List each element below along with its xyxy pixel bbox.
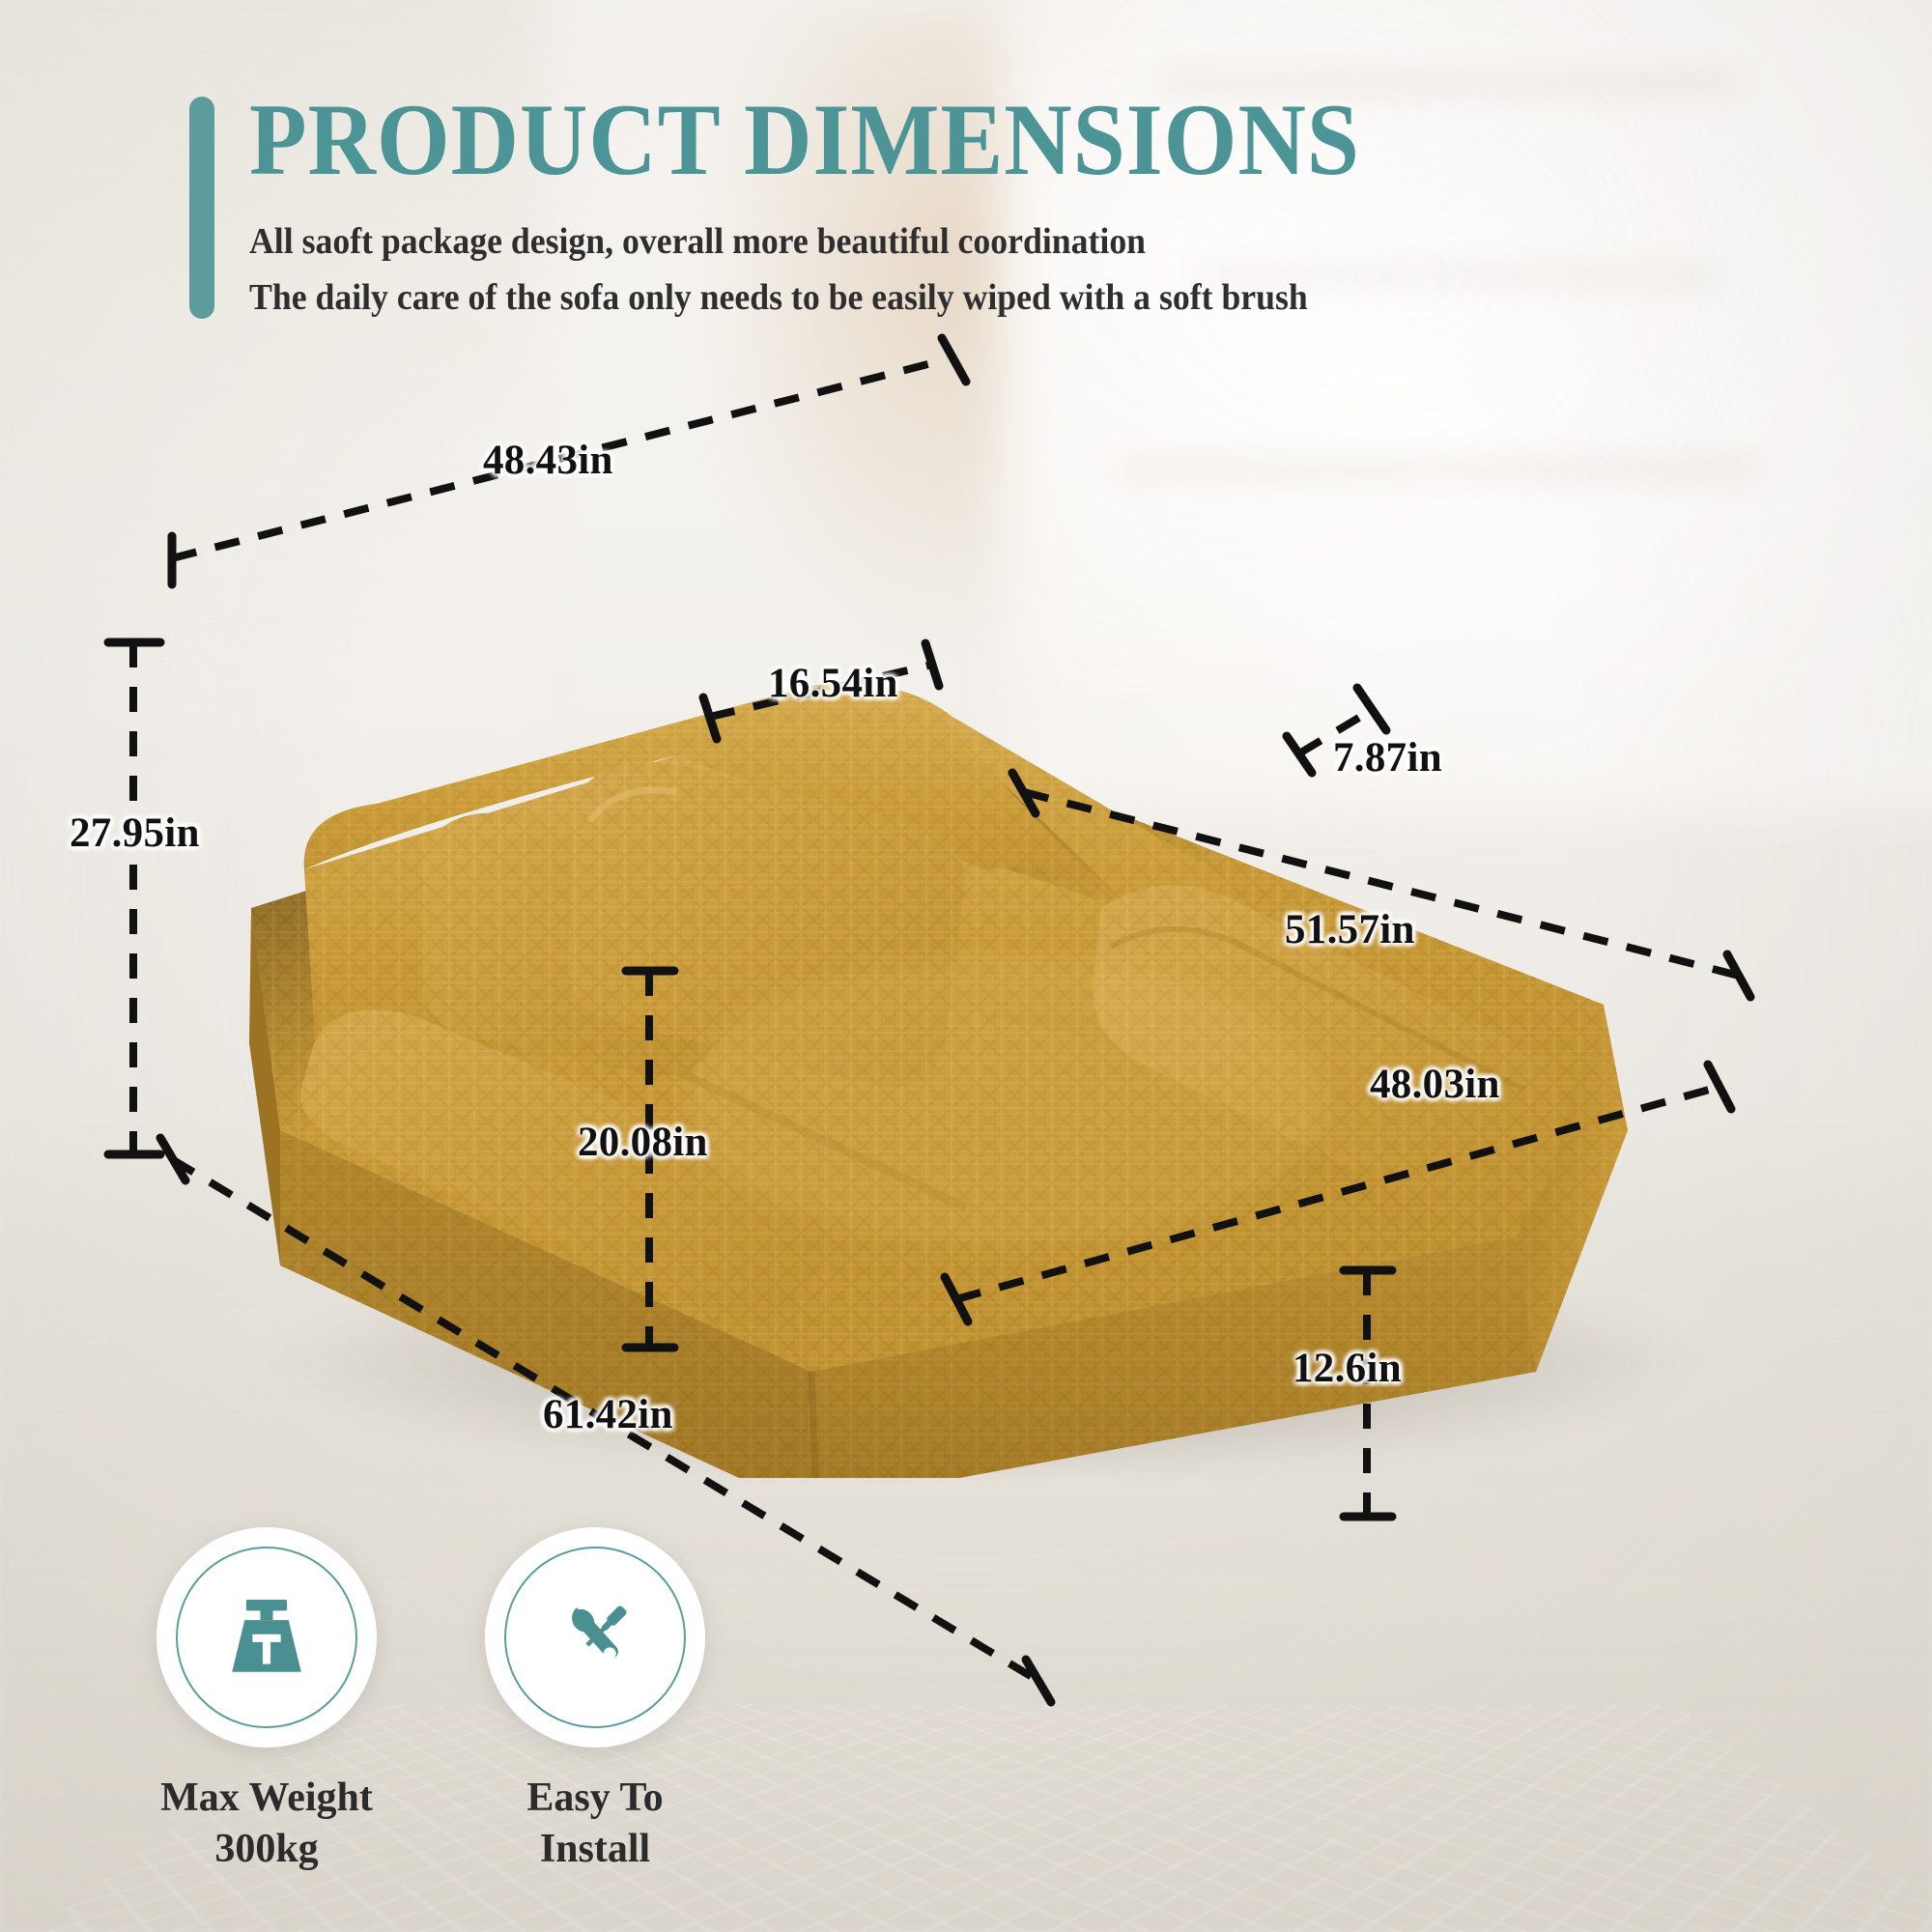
dimension-label-seat-width: 48.03in: [1370, 1061, 1500, 1108]
dimension-label-armrest-height: 7.87in: [1333, 734, 1442, 781]
dimension-label-overall-height: 27.95in: [70, 810, 200, 857]
feature-max-weight: Max Weight 300kg: [124, 1527, 410, 1877]
weight-icon: [216, 1587, 317, 1688]
dimension-label-pillow-width: 16.54in: [768, 660, 898, 707]
feature-icon-circle: [156, 1527, 377, 1747]
feature-label: Easy To Install: [452, 1773, 738, 1877]
subtitle-line-2: The daily care of the sofa only needs to…: [249, 272, 1831, 325]
feature-badges: Max Weight 300kg Eas: [124, 1527, 738, 1877]
header: PRODUCT DIMENSIONS All saoft package des…: [0, 0, 1932, 325]
accent-bar: [189, 97, 214, 319]
dimension-label-seat-diagonal-depth: 51.57in: [1285, 906, 1415, 953]
dimension-label-armrest-depth: 20.08in: [578, 1119, 708, 1166]
feature-easy-install: Easy To Install: [452, 1527, 738, 1877]
feature-icon-circle: [485, 1527, 705, 1747]
subtitle-line-1: All saoft package design, overall more b…: [249, 216, 1831, 269]
page-title: PRODUCT DIMENSIONS: [249, 89, 1798, 191]
product-image-sofa: [135, 367, 1806, 1478]
dimension-label-overall-back-width: 48.43in: [483, 437, 613, 484]
infographic-canvas: PRODUCT DIMENSIONS All saoft package des…: [0, 0, 1932, 1932]
dimension-label-overall-depth: 61.42in: [543, 1391, 673, 1438]
feature-label: Max Weight 300kg: [124, 1773, 410, 1877]
tools-icon: [545, 1587, 645, 1688]
dimension-label-seat-height: 12.6in: [1293, 1345, 1402, 1392]
